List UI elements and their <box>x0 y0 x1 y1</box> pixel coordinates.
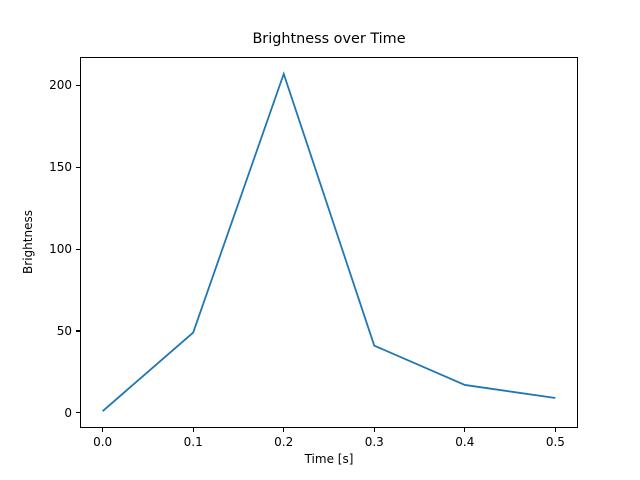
x-tick-label: 0.2 <box>254 436 314 448</box>
x-tick-mark <box>102 428 103 432</box>
y-axis-label: Brightness <box>21 182 35 302</box>
y-tick-label: 50 <box>57 325 72 337</box>
x-tick-label: 0.0 <box>73 436 133 448</box>
y-tick-label: 200 <box>49 79 72 91</box>
y-tick-label: 150 <box>49 161 72 173</box>
chart-figure: Brightness over Time 050100150200 0.00.1… <box>0 0 640 480</box>
y-tick-label: 100 <box>49 243 72 255</box>
x-tick-label: 0.5 <box>525 436 585 448</box>
y-tick-label: 0 <box>64 407 72 419</box>
series-polyline <box>103 74 556 411</box>
plot-area <box>80 57 578 428</box>
x-tick-mark <box>193 428 194 432</box>
chart-title: Brightness over Time <box>80 30 578 48</box>
x-tick-label: 0.3 <box>344 436 404 448</box>
x-tick-mark <box>464 428 465 432</box>
x-tick-mark <box>283 428 284 432</box>
x-tick-mark <box>374 428 375 432</box>
x-tick-label: 0.4 <box>435 436 495 448</box>
line-series-brightness <box>80 57 578 428</box>
x-tick-label: 0.1 <box>163 436 223 448</box>
x-tick-mark <box>555 428 556 432</box>
x-axis-label: Time [s] <box>80 452 578 466</box>
